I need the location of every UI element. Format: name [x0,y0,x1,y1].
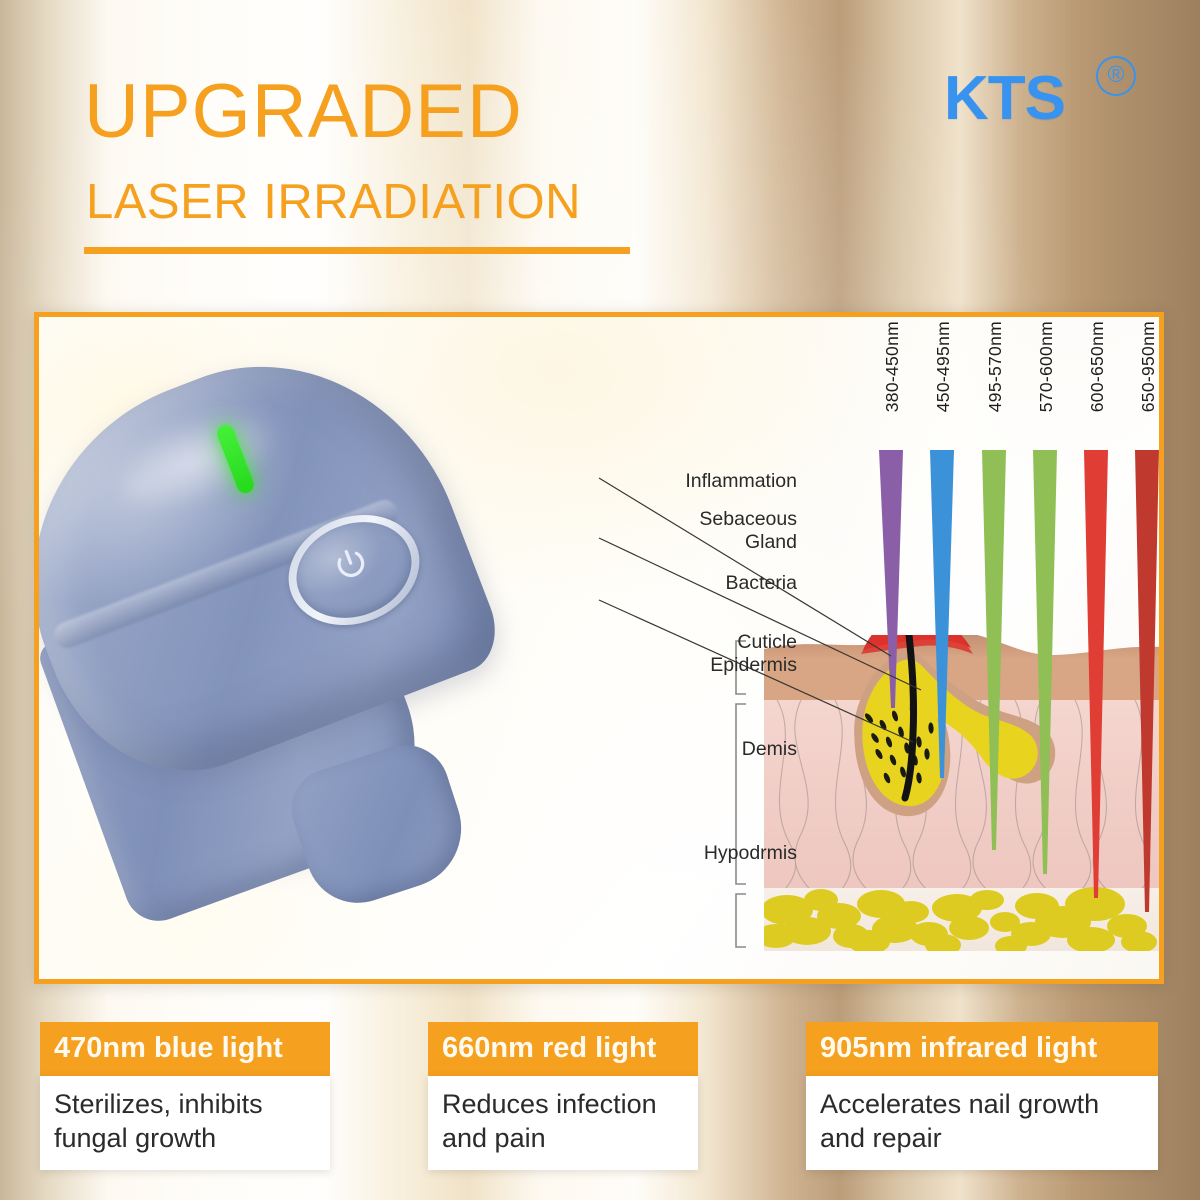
feature-card-red-light: 660nm red light Reduces infection and pa… [428,1022,698,1170]
feature-body: Sterilizes, inhibits fungal growth [40,1076,330,1170]
feature-body: Reduces infection and pain [428,1076,698,1170]
header: UPGRADED LASER IRRADIATION KTS ® [0,0,1200,300]
wavelength-label-570-600: 570-600nm [1038,321,1056,412]
infographic-root: UPGRADED LASER IRRADIATION KTS ® [0,0,1200,1200]
layer-label-dermis: Demis [539,738,797,761]
registered-trademark-icon: ® [1096,56,1136,96]
callout-bacteria: Bacteria [539,572,797,595]
layer-label-epidermis: Cuticle Epidermis [539,631,797,677]
brand-logo: KTS [944,68,1065,130]
wavelength-label-row: 380-450nm 450-495nm 495-570nm 570-600nm … [539,317,1159,457]
feature-card-row: 470nm blue light Sterilizes, inhibits fu… [0,1022,1200,1172]
feature-card-blue-light: 470nm blue light Sterilizes, inhibits fu… [40,1022,330,1170]
wavelength-label-380-450: 380-450nm [884,321,902,412]
wavelength-label-600-650: 600-650nm [1089,321,1107,412]
callout-labels: Inflammation Sebaceous Gland Bacteria Cu… [539,467,939,887]
feature-card-infrared-light: 905nm infrared light Accelerates nail gr… [806,1022,1158,1170]
page-title-line2: LASER IRRADIATION [86,178,581,227]
product-device-photo [39,335,559,935]
skin-penetration-diagram: 380-450nm 450-495nm 495-570nm 570-600nm … [539,317,1159,979]
feature-heading: 470nm blue light [40,1022,330,1076]
callout-sebaceous-gland: Sebaceous Gland [539,508,797,554]
layer-label-hypodermis: Hypodrmis [539,842,797,865]
wavelength-label-650-950: 650-950nm [1140,321,1158,412]
wavelength-label-450-495: 450-495nm [935,321,953,412]
feature-heading: 905nm infrared light [806,1022,1158,1076]
wavelength-label-495-570: 495-570nm [987,321,1005,412]
page-title-line1: UPGRADED [84,74,523,150]
callout-inflammation: Inflammation [539,470,797,493]
feature-heading: 660nm red light [428,1022,698,1076]
title-underline-rule [84,247,630,254]
main-image-panel: 380-450nm 450-495nm 495-570nm 570-600nm … [34,312,1164,984]
feature-body: Accelerates nail growth and repair [806,1076,1158,1170]
